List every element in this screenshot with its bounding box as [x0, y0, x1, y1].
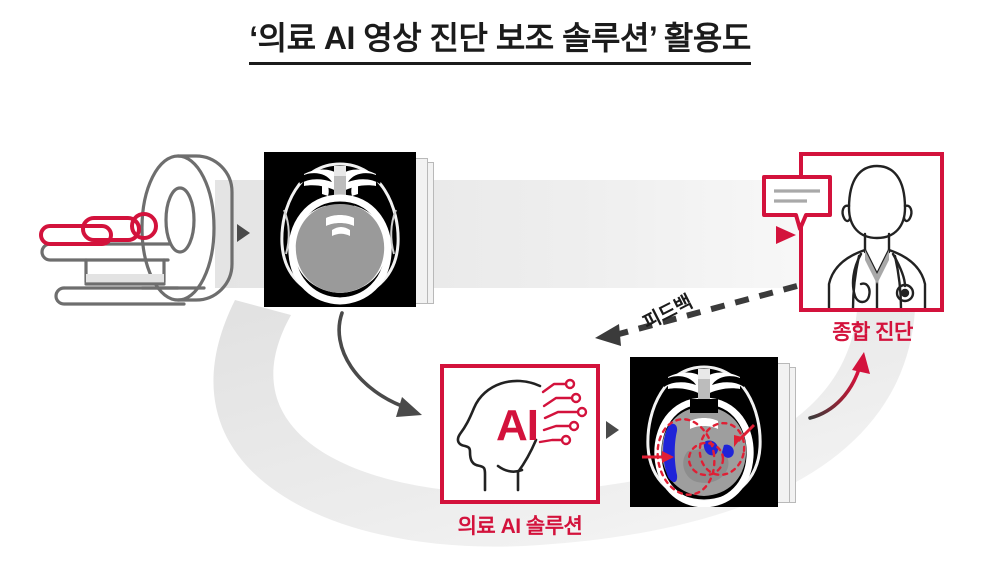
- ai-label: AI: [496, 401, 538, 450]
- speech-bubble-icon: [761, 174, 837, 236]
- step-arrow-ai-to-result: [606, 421, 619, 439]
- ai-solution-caption: 의료 AI 솔루션: [420, 510, 620, 540]
- doctor-diagnosis-caption: 종합 진단: [790, 316, 955, 346]
- ct-scan-image-stack: [264, 152, 436, 312]
- ai-annotated-scan-stack: [630, 357, 810, 512]
- arrow-feedback-doctor-to-ai: [585, 280, 815, 350]
- brain-ct-annotated-icon: [630, 357, 778, 507]
- brain-ct-icon: [264, 152, 416, 307]
- ai-solution-box[interactable]: AI: [440, 364, 600, 504]
- page-title-text: ‘의료 AI 영상 진단 보조 솔루션’ 활용도: [249, 18, 751, 65]
- arrow-scan-to-doctor: [440, 215, 800, 255]
- patient-on-bed-icon: [41, 214, 156, 244]
- arrow-scan-to-ai: [300, 305, 460, 430]
- arrow-result-to-doctor: [800, 340, 920, 450]
- step-arrow-scanner-to-scan: [237, 224, 250, 242]
- ct-scanner-icon: [28, 148, 243, 308]
- ai-head-circuit-icon: AI: [444, 368, 596, 500]
- page-title: ‘의료 AI 영상 진단 보조 솔루션’ 활용도: [0, 18, 1000, 65]
- infographic-canvas: ‘의료 AI 영상 진단 보조 솔루션’ 활용도: [0, 0, 1000, 566]
- doctor-diagnosis-box[interactable]: [799, 152, 944, 312]
